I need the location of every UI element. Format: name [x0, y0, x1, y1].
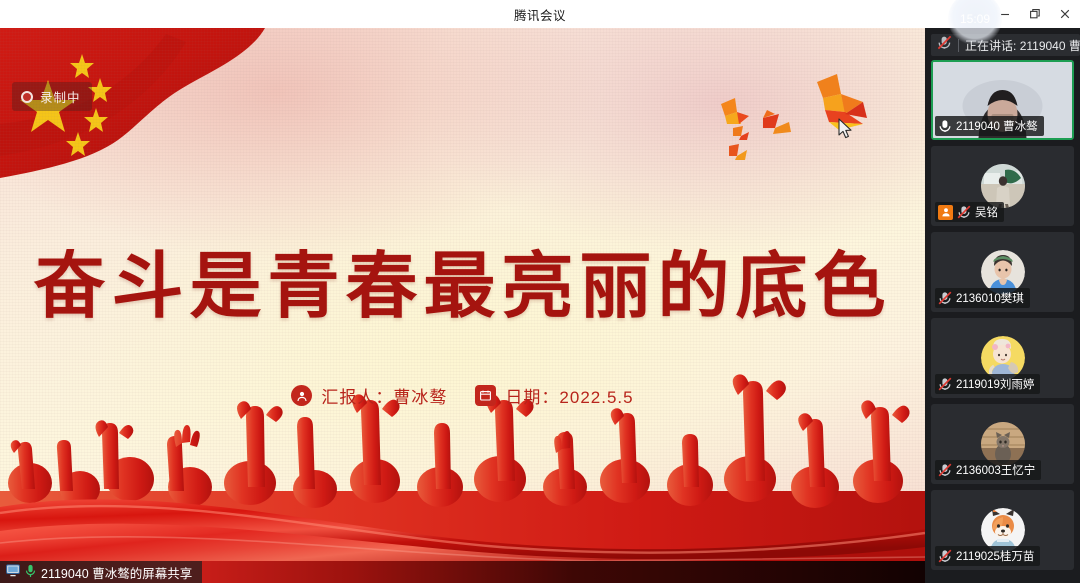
mic-muted-icon	[938, 463, 952, 477]
person-icon	[291, 385, 312, 406]
participant-name: 2119025桂万苗	[956, 548, 1034, 564]
mic-muted-icon	[938, 377, 952, 391]
mic-on-icon	[25, 564, 36, 581]
presentation-slide: 录制中	[0, 28, 925, 561]
slide-title: 奋斗是青春最亮丽的底色	[0, 250, 925, 322]
minimize-button[interactable]	[990, 0, 1020, 28]
participant-name: 2136010樊琪	[956, 290, 1024, 306]
participant-rail[interactable]: 正在讲话: 2119040 曹冰骜	[925, 28, 1080, 583]
title-bar: 腾讯会议	[0, 0, 1080, 28]
share-status-inner: 2119040 曹冰骜的屏幕共享	[0, 561, 202, 583]
mic-muted-icon	[937, 35, 952, 55]
participant-label: 2119040 曹冰骜	[935, 116, 1044, 136]
participant-label: 2119019刘雨婷	[935, 374, 1040, 394]
shared-screen-area[interactable]: 录制中	[0, 28, 925, 583]
calendar-icon	[475, 385, 496, 406]
mouse-cursor	[838, 118, 854, 145]
restore-button[interactable]	[1020, 0, 1050, 28]
participant-name: 2119040 曹冰骜	[956, 118, 1038, 134]
share-status-bar: 2119040 曹冰骜的屏幕共享	[0, 561, 925, 583]
participant-tile[interactable]: 2119025桂万苗	[931, 490, 1074, 570]
participant-tile-active[interactable]: 2119040 曹冰骜	[931, 60, 1074, 140]
participant-tile[interactable]: 2136003王忆宁	[931, 404, 1074, 484]
participant-name: 2119019刘雨婷	[956, 376, 1034, 392]
participant-label: 2136010樊琪	[935, 288, 1030, 308]
participant-tile[interactable]: 吴铭	[931, 146, 1074, 226]
participant-label: 2136003王忆宁	[935, 460, 1041, 480]
date-label: 日期：2022.5.5	[505, 383, 633, 408]
app-title: 腾讯会议	[514, 5, 566, 24]
recording-label: 录制中	[40, 87, 81, 106]
slide-subtitle-row: 汇报人：曹冰骜 日期：2022.5.5	[0, 383, 925, 408]
origami-birds-graphic	[705, 68, 905, 178]
speaking-separator	[958, 39, 959, 52]
close-button[interactable]	[1050, 0, 1080, 28]
participant-name: 2136003王忆宁	[956, 462, 1035, 478]
mic-muted-icon	[957, 205, 971, 219]
recording-indicator: 录制中	[12, 82, 92, 111]
participant-name: 吴铭	[975, 204, 998, 220]
host-badge-icon	[938, 205, 953, 220]
chinese-flag-graphic	[0, 28, 330, 203]
speaking-indicator-bar: 正在讲话: 2119040 曹冰骜	[931, 34, 1080, 56]
participant-tile[interactable]: 2119019刘雨婷	[931, 318, 1074, 398]
share-status-text: 2119040 曹冰骜的屏幕共享	[41, 563, 192, 582]
participant-label: 2119025桂万苗	[935, 546, 1040, 566]
window-controls	[990, 0, 1080, 28]
participant-label: 吴铭	[935, 202, 1004, 222]
mic-on-icon	[938, 119, 952, 133]
record-dot-icon	[21, 91, 33, 103]
mic-muted-icon	[938, 549, 952, 563]
screen-icon	[6, 564, 20, 580]
participant-tile[interactable]: 2136010樊琪	[931, 232, 1074, 312]
presenter-label: 汇报人：曹冰骜	[321, 383, 447, 408]
meeting-window: 腾讯会议 15:09	[0, 0, 1080, 583]
mic-muted-icon	[938, 291, 952, 305]
speaking-label: 正在讲话: 2119040 曹冰骜	[965, 37, 1080, 54]
